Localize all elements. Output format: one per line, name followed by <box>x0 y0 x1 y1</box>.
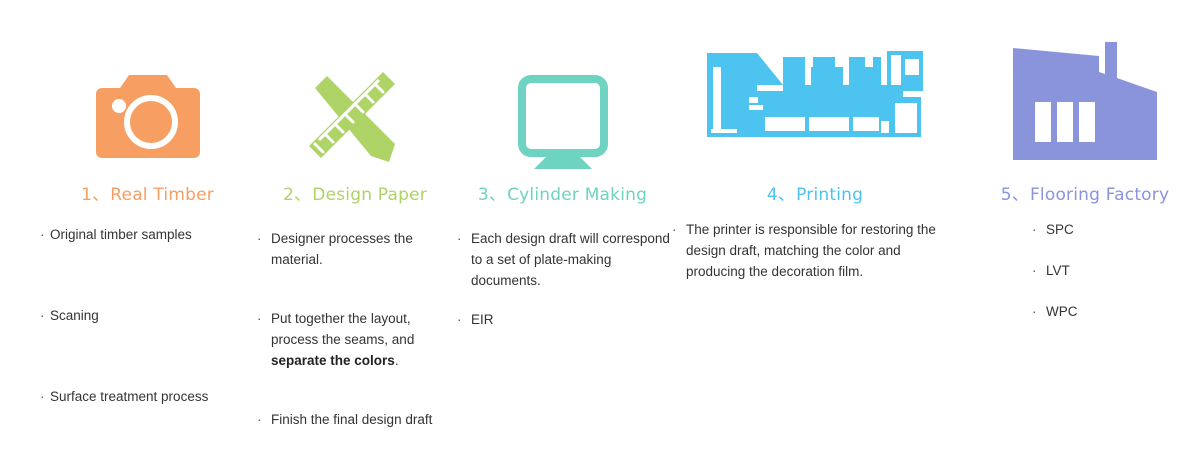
bullet-dot: · <box>1032 301 1037 322</box>
list-item: · The printer is responsible for restori… <box>670 219 960 282</box>
camera-icon <box>40 20 255 170</box>
monitor-icon <box>455 20 670 170</box>
bullet-dot: · <box>1032 219 1037 240</box>
list-item-text: Each design draft will correspond to a s… <box>471 231 670 288</box>
list-item: · Surface treatment process <box>40 386 255 407</box>
bullet-dot: · <box>257 409 262 430</box>
bullet-dot: · <box>257 228 262 249</box>
list-item-text: LVT <box>1046 263 1070 278</box>
list-item: · Scaning <box>40 305 255 326</box>
bullet-dot: · <box>1032 260 1037 281</box>
ruler-pencil-icon <box>255 20 455 170</box>
factory-icon <box>985 20 1185 170</box>
list-item: · Put together the layout, process the s… <box>255 308 455 371</box>
bullet-dot: · <box>40 305 45 326</box>
step-number-3: 3、 <box>478 185 506 205</box>
step-item-list-2: · Designer processes the material. · Put… <box>255 228 455 468</box>
list-item-text: Designer processes the material. <box>271 231 413 267</box>
list-item: · Finish the final design draft <box>255 409 455 430</box>
step-item-list-1: · Original timber samples · Scaning · Su… <box>40 224 255 467</box>
bullet-dot: · <box>672 219 677 240</box>
list-item-text-pre: Put together the layout, process the sea… <box>271 311 414 347</box>
process-infographic: 1、Real Timber · Original timber samples … <box>0 0 1200 450</box>
list-item: · Original timber samples <box>40 224 255 245</box>
step-heading-2: 2、Design Paper <box>255 180 455 205</box>
step-title-2: Design Paper <box>312 185 427 205</box>
process-step-1: 1、Real Timber · Original timber samples … <box>40 0 255 450</box>
list-item-text-strong: separate the colors <box>271 353 395 368</box>
bullet-dot: · <box>457 309 462 330</box>
list-item: · WPC <box>1030 301 1185 322</box>
step-heading-1: 1、Real Timber <box>40 180 255 205</box>
process-step-3: 3、Cylinder Making · Each design draft wi… <box>455 0 670 450</box>
step-number-4: 4、 <box>767 185 795 205</box>
step-number-5: 5、 <box>1001 185 1029 205</box>
list-item-text: Scaning <box>50 308 99 323</box>
list-item: · LVT <box>1030 260 1185 281</box>
list-item-text: The printer is responsible for restoring… <box>686 222 936 279</box>
step-title-3: Cylinder Making <box>507 185 647 205</box>
printing-press-icon <box>670 20 960 170</box>
step-item-list-3: · Each design draft will correspond to a… <box>455 228 670 348</box>
step-heading-5: 5、Flooring Factory <box>985 180 1185 205</box>
step-item-list-4: · The printer is responsible for restori… <box>670 219 960 303</box>
step-title-4: Printing <box>796 185 863 205</box>
list-item: · Designer processes the material. <box>255 228 455 270</box>
process-step-5: 5、Flooring Factory · SPC · LVT · WPC <box>985 0 1185 450</box>
step-heading-3: 3、Cylinder Making <box>455 180 670 205</box>
list-item-text: Surface treatment process <box>50 389 208 404</box>
list-item: · SPC <box>1030 219 1185 240</box>
list-item-text: Finish the final design draft <box>271 412 432 427</box>
bullet-dot: · <box>40 224 45 245</box>
process-step-2: 2、Design Paper · Designer processes the … <box>255 0 455 450</box>
bullet-dot: · <box>457 228 462 249</box>
list-item: · Each design draft will correspond to a… <box>455 228 670 291</box>
list-item-text: Original timber samples <box>50 227 192 242</box>
list-item: · EIR <box>455 309 670 330</box>
list-item-text: WPC <box>1046 304 1078 319</box>
list-item-text: SPC <box>1046 222 1074 237</box>
step-item-list-5: · SPC · LVT · WPC <box>1030 219 1185 342</box>
list-item-text-post: . <box>395 353 399 368</box>
bullet-dot: · <box>257 308 262 329</box>
step-number-2: 2、 <box>283 185 311 205</box>
step-title-1: Real Timber <box>110 185 214 205</box>
step-number-1: 1、 <box>81 185 109 205</box>
process-step-4: 4、Printing · The printer is responsible … <box>670 0 960 450</box>
bullet-dot: · <box>40 386 45 407</box>
list-item-text: EIR <box>471 312 494 327</box>
step-title-5: Flooring Factory <box>1030 185 1169 205</box>
step-heading-4: 4、Printing <box>670 180 960 205</box>
